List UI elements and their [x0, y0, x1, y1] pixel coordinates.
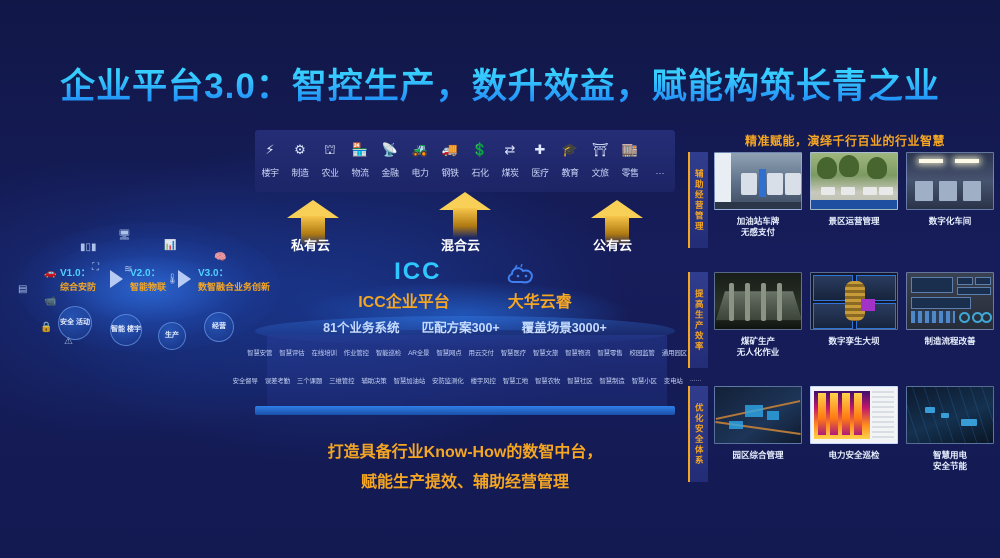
bottom-message: 打造具备行业Know-How的数智中台， 赋能生产提效、辅助经营管理	[255, 438, 675, 497]
capability-tag-panel: 智慧安管 智慧评估 在线培训 作业管控 智能巡检 AR全景 智慧网点 用云交付 …	[267, 335, 667, 411]
tag-item: 安全督导	[233, 375, 258, 385]
case-card[interactable]: 智慧用电 安全节能	[906, 386, 994, 473]
industry-label-louyu: 楼宇	[261, 166, 279, 179]
case-card[interactable]: 加油站车牌 无感支付	[714, 152, 802, 239]
thermal-inspection-thumb	[810, 386, 898, 444]
industry-label-nongye: 农业	[321, 166, 339, 179]
tag-item: 校园监管	[630, 347, 655, 357]
caption-line: 加油站车牌	[714, 216, 802, 227]
tag-item: 在线培训	[311, 347, 336, 357]
store-icon: 🏬	[621, 143, 639, 156]
evolution-diagram: ▮▯▮ 🖥 📊 🧠 🚗 ⛶ ≋ 🌡 📹 🔒 ⚠ ▤ V1.0： 综合安防 V2.…	[18, 222, 280, 352]
evolution-stage-version: V2.0：	[130, 264, 166, 279]
tag-item: 误差考勤	[265, 375, 290, 385]
tag-item: 楼宇风控	[471, 375, 496, 385]
case-caption: 制造流程改善	[906, 336, 994, 347]
caption-line: 园区综合管理	[714, 450, 802, 461]
evolution-stage-name: 数智融合业务创新	[198, 280, 270, 293]
industry-label-yiliao: 医疗	[531, 166, 549, 179]
caption-line: 景区运营管理	[810, 216, 898, 227]
platform-name-row: ICC企业平台 大华云睿	[255, 288, 675, 312]
industry-label-shihua: 石化	[471, 166, 489, 179]
manufacturing-console-thumb	[906, 272, 994, 330]
industry-label-jiaoyu: 教育	[561, 166, 579, 179]
tag-item: 智能巡检	[376, 347, 401, 357]
tag-item: 作业管控	[344, 347, 369, 357]
tag-item: 三个课题	[297, 375, 322, 385]
gear-icon: ⚙	[291, 143, 309, 156]
industry-label-wenlv: 文旅	[591, 166, 609, 179]
industry-label-wuliu: 物流	[351, 166, 369, 179]
page-title: 企业平台3.0：智控生产，数升效益，赋能构筑长青之业	[0, 58, 1000, 109]
tag-item: 安防监测化	[432, 375, 464, 385]
evolution-bubble-building: 智能 楼宇	[110, 314, 142, 346]
graduation-cap-icon: 🎓	[561, 143, 579, 156]
bottom-message-line1: 打造具备行业Know-How的数智中台，	[255, 438, 675, 468]
tag-item: 用云交付	[469, 347, 494, 357]
caption-line: 无人化作业	[714, 347, 802, 358]
case-row-safety: 优化安全体系 园区综合管理 电力安全巡检	[688, 386, 994, 498]
industry-label-row: 楼宇 制造 农业 物流 金融 电力 钢铁 石化 煤炭 医疗 教育 文旅 零售 ·…	[255, 166, 675, 179]
case-caption: 园区综合管理	[714, 450, 802, 461]
smart-power-thumb	[906, 386, 994, 444]
industry-label-jinrong: 金融	[381, 166, 399, 179]
case-card[interactable]: 数字孪生大坝	[810, 272, 898, 359]
tag-item: 辅助决策	[361, 375, 386, 385]
signal-icon: 📊	[164, 240, 176, 251]
tag-item: 智慧制造	[599, 375, 624, 385]
caption-line: 数字孪生大坝	[810, 336, 898, 347]
camera-icon: 📹	[44, 296, 56, 307]
case-row-tab-label: 辅助经营管理	[695, 169, 704, 232]
case-row-tab: 提高生产效率	[688, 272, 708, 368]
lightning-icon: ⚡	[261, 143, 279, 156]
evolution-arrow-2	[178, 270, 191, 288]
case-card[interactable]: 制造流程改善	[906, 272, 994, 359]
tag-item: 智慧医疗	[501, 347, 526, 357]
gas-station-anpr-thumb	[714, 152, 802, 210]
tag-item: 智慧社区	[567, 375, 592, 385]
cloud-label-private: 私有云	[291, 235, 330, 254]
panel-base-edge	[255, 406, 675, 415]
digital-twin-dam-thumb	[810, 272, 898, 330]
case-caption: 数字化车间	[906, 216, 994, 227]
icc-logo: ICC	[394, 258, 441, 286]
evolution-stage-version: V1.0：	[60, 264, 96, 279]
case-row-tab-label: 优化安全体系	[695, 403, 704, 466]
caption-line: 无感支付	[714, 227, 802, 238]
evolution-bubble-safety: 安全 活动	[58, 306, 92, 340]
thermometer-icon: 🌡	[166, 274, 179, 285]
id-card-icon: ▤	[18, 284, 27, 295]
flow-icon: ⇄	[501, 143, 519, 156]
tag-item: 智慧文旅	[533, 347, 558, 357]
cases-title: 精准赋能，演绎千行百业的行业智慧	[700, 132, 990, 149]
digital-workshop-thumb	[906, 152, 994, 210]
industry-label-gangtie: 钢铁	[441, 166, 459, 179]
evolution-stage-v1: V1.0： 综合安防	[60, 264, 96, 293]
case-caption: 景区运营管理	[810, 216, 898, 227]
park-management-thumb	[714, 386, 802, 444]
case-card[interactable]: 煤矿生产 无人化作业	[714, 272, 802, 359]
industry-bar: ⚡ ⚙ ⛫ 🏪 📡 🚜 🚚 💲 ⇄ ✚ 🎓 ⛩ 🏬 楼宇 制造 农业 物流 金融…	[255, 130, 675, 192]
coin-icon: 💲	[471, 143, 489, 156]
tag-item: 智慧工地	[503, 375, 528, 385]
medical-cross-icon: ✚	[531, 143, 549, 156]
case-cards: 加油站车牌 无感支付 景区运营管理 数字化车间	[714, 152, 994, 239]
evolution-bubble-production: 生产	[158, 322, 186, 350]
tag-item: 智慧加油站	[394, 375, 426, 385]
brain-icon: 🧠	[214, 252, 226, 263]
monitor-icon: 🖥	[118, 230, 131, 241]
caption-line: 制造流程改善	[906, 336, 994, 347]
arrow-hybrid-cloud	[439, 192, 491, 238]
tag-item: 智慧评估	[279, 347, 304, 357]
caption-line: 智慧用电	[906, 450, 994, 461]
truck-icon: 🚚	[441, 143, 459, 156]
evolution-stage-v2: V2.0： 智能物联	[130, 264, 166, 293]
factory-icon: ⛫	[321, 143, 339, 156]
tag-item: 智慧网点	[436, 347, 461, 357]
evolution-arrow-1	[110, 270, 123, 288]
tag-row-2: 安全督导 误差考勤 三个课题 三维管控 辅助决策 智慧加油站 安防监测化 楼宇风…	[267, 357, 667, 385]
industry-label-zhizao: 制造	[291, 166, 309, 179]
tag-item: 智慧农牧	[535, 375, 560, 385]
tag-item: 三维管控	[329, 375, 354, 385]
industry-label-meitan: 煤炭	[501, 166, 519, 179]
tag-item: AR全景	[408, 347, 429, 357]
cloud-label-hybrid: 混合云	[441, 235, 480, 254]
bottom-message-line2: 赋能生产提效、辅助经营管理	[255, 468, 675, 498]
lock-icon: 🔒	[40, 322, 52, 333]
case-caption: 煤矿生产 无人化作业	[714, 336, 802, 359]
case-card[interactable]: 数字化车间	[906, 152, 994, 239]
case-caption: 电力安全巡检	[810, 450, 898, 461]
satellite-icon: 📡	[381, 143, 399, 156]
case-caption: 智慧用电 安全节能	[906, 450, 994, 473]
scenic-area-thumb	[810, 152, 898, 210]
case-row-tab: 辅助经营管理	[688, 152, 708, 248]
case-cards: 园区综合管理 电力安全巡检 智慧用电 安全节能	[714, 386, 994, 473]
case-card[interactable]: 景区运营管理	[810, 152, 898, 239]
cloud-smile-icon	[506, 264, 536, 286]
industry-label-more: ···	[651, 168, 669, 178]
excavator-icon: 🚜	[411, 143, 429, 156]
caption-line: 安全节能	[906, 461, 994, 472]
tag-row-1: 智慧安管 智慧评估 在线培训 作业管控 智能巡检 AR全景 智慧网点 用云交付 …	[267, 335, 667, 357]
evolution-bubble-operation: 经营	[204, 312, 234, 342]
case-row-tab: 优化安全体系	[688, 386, 708, 482]
evolution-stage-name: 智能物联	[130, 280, 166, 293]
case-cards: 煤矿生产 无人化作业 数字孪生大坝 制造流程改善	[714, 272, 994, 359]
platform-name-icc: ICC企业平台	[358, 288, 450, 312]
tag-item: 智慧零售	[597, 347, 622, 357]
tag-item: 智慧小区	[632, 375, 657, 385]
platform-name-dahua: 大华云睿	[508, 288, 572, 312]
pavilion-icon: ⛩	[591, 143, 609, 156]
shop-icon: 🏪	[351, 143, 369, 156]
industry-label-lingshou: 零售	[621, 166, 639, 179]
case-row-operations: 辅助经营管理 加油站车牌 无感支付 景区运营管理	[688, 152, 994, 264]
car-icon: 🚗	[44, 268, 56, 279]
case-caption: 数字孪生大坝	[810, 336, 898, 347]
case-caption: 加油站车牌 无感支付	[714, 216, 802, 239]
caption-line: 煤矿生产	[714, 336, 802, 347]
coal-mine-thumb	[714, 272, 802, 330]
cloud-arrows: 私有云 混合云 公有云	[255, 196, 675, 254]
caption-line: 数字化车间	[906, 216, 994, 227]
evolution-stage-version: V3.0：	[198, 264, 270, 279]
case-row-efficiency: 提高生产效率 煤矿生产 无人化作业 数字孪生大坝	[688, 272, 994, 384]
caption-line: 电力安全巡检	[810, 450, 898, 461]
industry-label-dianli: 电力	[411, 166, 429, 179]
industry-icon-row: ⚡ ⚙ ⛫ 🏪 📡 🚜 🚚 💲 ⇄ ✚ 🎓 ⛩ 🏬	[255, 138, 675, 160]
evolution-stage-v3: V3.0： 数智融合业务创新	[198, 264, 270, 293]
chart-bar-icon: ▮▯▮	[80, 242, 97, 253]
case-card[interactable]: 园区综合管理	[714, 386, 802, 473]
platform-diagram: ⚡ ⚙ ⛫ 🏪 📡 🚜 🚚 💲 ⇄ ✚ 🎓 ⛩ 🏬 楼宇 制造 农业 物流 金融…	[255, 130, 675, 430]
evolution-stage-name: 综合安防	[60, 280, 96, 293]
tag-item: 通用园区	[662, 347, 687, 357]
tag-item: 变电站	[664, 375, 683, 385]
cloud-label-public: 公有云	[593, 235, 632, 254]
case-card[interactable]: 电力安全巡检	[810, 386, 898, 473]
case-row-tab-label: 提高生产效率	[695, 289, 704, 352]
tag-item: 智慧物流	[565, 347, 590, 357]
